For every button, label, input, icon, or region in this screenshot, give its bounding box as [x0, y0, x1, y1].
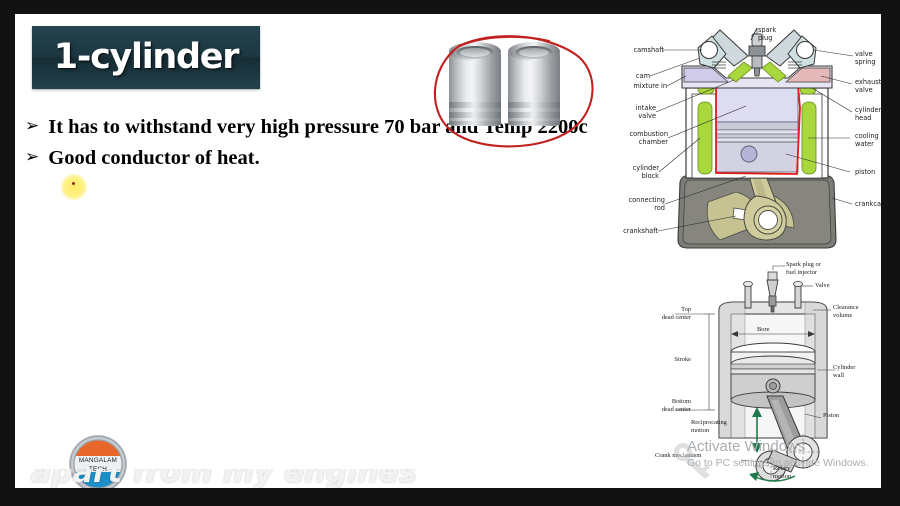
activate-windows-subtitle: Go to PC settings to activate Windows.: [687, 457, 881, 471]
diagram-label-spark-plug-or-fuel-injector: Spark plug or fuel injector: [786, 261, 848, 278]
diagram-label-cylinder-head: cylinder head: [855, 106, 881, 122]
activate-windows-title: Activate Windows: [687, 438, 881, 455]
slide-title-banner: 1-cylinder: [32, 26, 260, 89]
cylinder-liner-left: [449, 42, 501, 126]
key-icon: [670, 439, 716, 479]
diagram-label-mixture-in: mixture in: [618, 82, 667, 90]
diagram-label-clearance-volume: Clearance volume: [833, 304, 881, 321]
cylinder-liner-photo: [433, 22, 593, 132]
diagram-label-reciprocating-motion: Reciprocating motion: [691, 419, 753, 436]
diagram-label-cylinder-wall: Cylinder wall: [833, 364, 881, 381]
page-title: 1-cylinder: [54, 40, 238, 75]
bottom-watermark-text: apart from my engines: [31, 469, 417, 488]
diagram-label-bottom-dead-center: Bottom dead center: [643, 398, 691, 415]
diagram-label-crankshaft: crankshaft: [618, 227, 658, 235]
diagram-label-cooling-water: cooling water: [855, 132, 881, 148]
bottom-watermark: apart from my engines: [17, 469, 437, 488]
bullet-arrow-icon: ➢: [25, 145, 39, 170]
diagram-label-bore: Bore: [757, 326, 789, 334]
diagram-label-camshaft: camshaft: [618, 46, 664, 54]
diagram-label-combustion-chamber: combustion chamber: [618, 130, 668, 146]
diagram-label-connecting-rod: connecting rod: [618, 196, 665, 212]
video-frame: 1-cylinder ➢ It has to withstand very hi…: [0, 0, 900, 506]
presentation-slide: 1-cylinder ➢ It has to withstand very hi…: [15, 14, 881, 488]
diagram-label-valve-spring: valve spring: [855, 50, 881, 66]
diagram-label-spark-plug: spark plug: [758, 26, 798, 42]
bullet-arrow-icon: ➢: [25, 114, 39, 139]
diagram-label-crankcase: crankcase: [855, 200, 881, 208]
laser-pointer-icon: [61, 174, 87, 200]
activate-windows-watermark: Activate Windows Go to PC settings to ac…: [687, 438, 881, 471]
diagram-label-stroke: Stroke: [649, 356, 691, 364]
diagram-label-cam: cam: [618, 72, 650, 80]
diagram-label-intake-valve: intake valve: [618, 104, 656, 120]
logo-line-1: MANGALAM: [68, 456, 128, 465]
diagram-label-exhaust-valve: exhaust valve: [855, 78, 881, 94]
diagram-label-piston: piston: [855, 168, 881, 176]
list-item-label: Good conductor of heat.: [48, 145, 595, 171]
cylinder-liner-right: [508, 42, 560, 126]
list-item: ➢ Good conductor of heat.: [25, 145, 595, 171]
engine-cutaway-diagram: camshaft cam mixture in intake valve com…: [616, 26, 881, 254]
diagram-label-valve: Valve: [815, 282, 849, 290]
diagram-label-cylinder-block: cylinder block: [618, 164, 659, 180]
diagram-label-top-dead-center: Top dead center: [643, 306, 691, 323]
diagram-label-piston: Piston: [823, 412, 863, 420]
